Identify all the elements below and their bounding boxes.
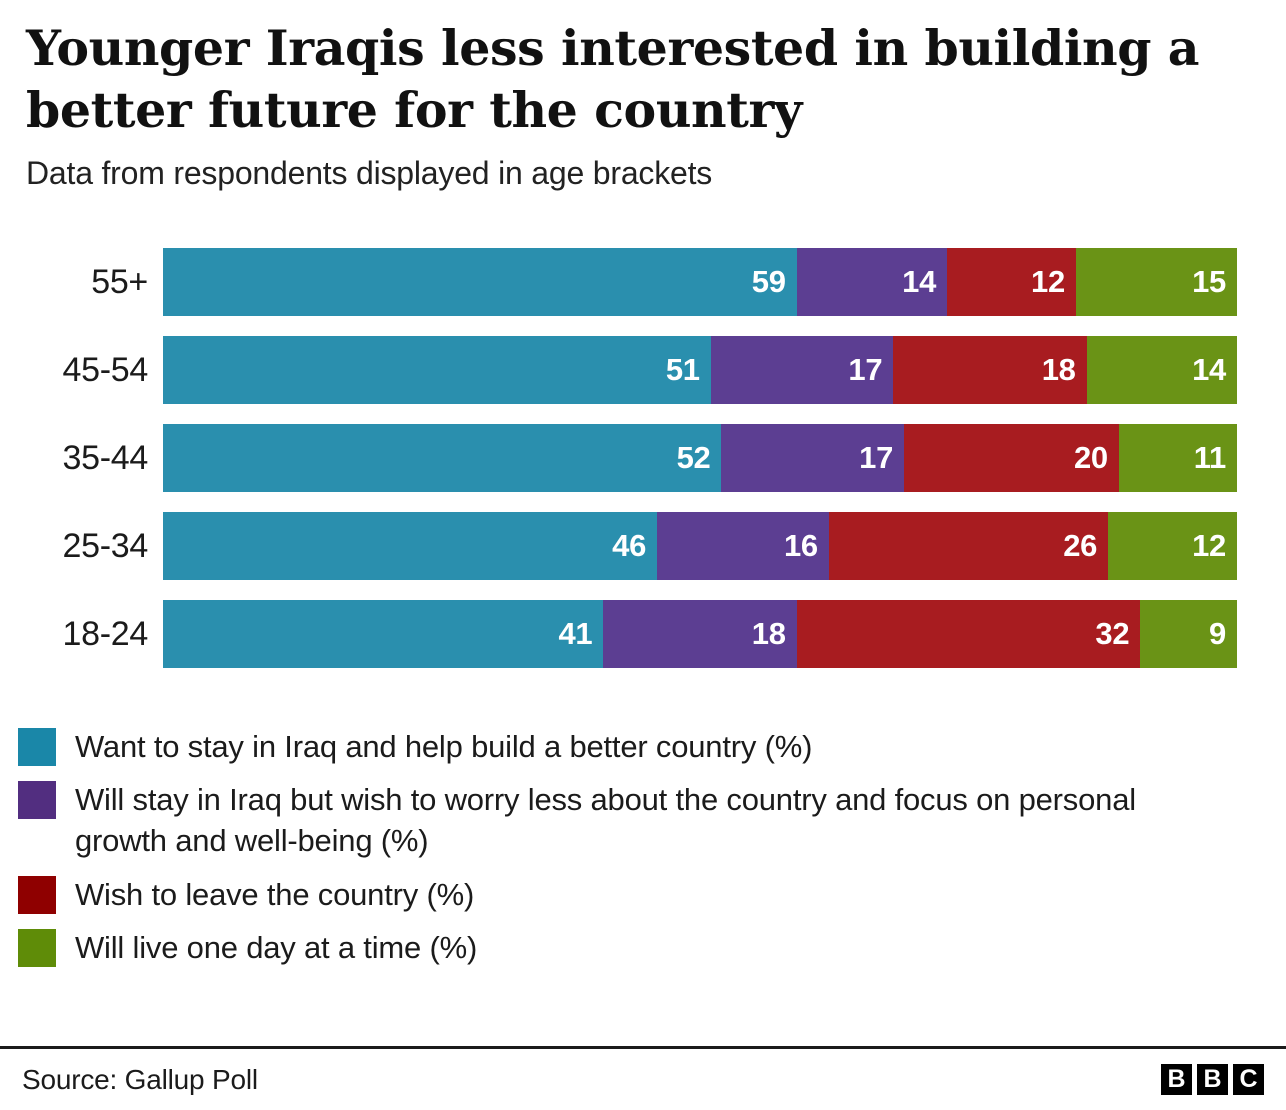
bar-row: 18-244118329	[0, 600, 1286, 668]
bar-segment-value: 18	[1042, 352, 1076, 388]
legend-swatch-icon	[18, 728, 56, 766]
bar-track: 4118329	[163, 600, 1237, 668]
bar-segment-value: 12	[1192, 528, 1226, 564]
bar-track: 51171814	[163, 336, 1237, 404]
bar-segment: 46	[163, 512, 657, 580]
bar-segment-value: 32	[1095, 616, 1129, 652]
bar-track: 59141215	[163, 248, 1237, 316]
bar-segment-value: 12	[1031, 264, 1065, 300]
chart-page: Younger Iraqis less interested in buildi…	[0, 0, 1286, 1110]
chart-title: Younger Iraqis less interested in buildi…	[26, 18, 1206, 141]
legend-label: Wish to leave the country (%)	[75, 874, 474, 915]
bar-row: 25-3446162612	[0, 512, 1286, 580]
bar-segment-value: 17	[859, 440, 893, 476]
bar-segment: 12	[1108, 512, 1237, 580]
bar-segment-value: 41	[558, 616, 592, 652]
bar-segment: 17	[721, 424, 904, 492]
bar-segment-value: 59	[752, 264, 786, 300]
legend-item: Want to stay in Iraq and help build a be…	[18, 726, 1258, 767]
category-label: 35-44	[0, 424, 148, 492]
legend-label: Want to stay in Iraq and help build a be…	[75, 726, 812, 767]
bar-segment: 41	[163, 600, 603, 668]
bar-segment: 18	[603, 600, 796, 668]
bar-segment-value: 14	[902, 264, 936, 300]
category-label: 25-34	[0, 512, 148, 580]
bar-segment: 18	[893, 336, 1086, 404]
bar-segment-value: 11	[1194, 440, 1226, 476]
source-label: Source: Gallup Poll	[22, 1064, 258, 1096]
bar-track: 52172011	[163, 424, 1237, 492]
bbc-logo: BBC	[1161, 1064, 1264, 1095]
legend-swatch-icon	[18, 876, 56, 914]
bar-segment: 14	[1087, 336, 1237, 404]
bar-segment-value: 17	[848, 352, 882, 388]
category-label: 55+	[0, 248, 148, 316]
bar-segment-value: 14	[1192, 352, 1226, 388]
bar-segment: 52	[163, 424, 721, 492]
bar-track: 46162612	[163, 512, 1237, 580]
bbc-logo-block: C	[1233, 1064, 1264, 1095]
bar-segment-value: 20	[1074, 440, 1108, 476]
category-label: 45-54	[0, 336, 148, 404]
legend-item: Will stay in Iraq but wish to worry less…	[18, 779, 1258, 861]
bar-segment-value: 18	[752, 616, 786, 652]
bar-segment: 20	[904, 424, 1119, 492]
bar-row: 55+59141215	[0, 248, 1286, 316]
bar-segment: 26	[829, 512, 1108, 580]
bar-segment-value: 52	[677, 440, 711, 476]
legend-label: Will live one day at a time (%)	[75, 927, 477, 968]
bar-segment-value: 15	[1192, 264, 1226, 300]
bar-segment: 15	[1076, 248, 1237, 316]
bbc-logo-block: B	[1197, 1064, 1228, 1095]
bar-segment: 32	[797, 600, 1141, 668]
legend-label: Will stay in Iraq but wish to worry less…	[75, 779, 1235, 861]
bar-row: 35-4452172011	[0, 424, 1286, 492]
chart-subtitle: Data from respondents displayed in age b…	[26, 155, 1260, 192]
bar-segment-value: 46	[612, 528, 646, 564]
legend-swatch-icon	[18, 929, 56, 967]
bar-row: 45-5451171814	[0, 336, 1286, 404]
bar-segment: 59	[163, 248, 797, 316]
bbc-logo-block: B	[1161, 1064, 1192, 1095]
chart-footer: Source: Gallup Poll BBC	[0, 1049, 1286, 1110]
legend-swatch-icon	[18, 781, 56, 819]
bar-segment-value: 51	[666, 352, 700, 388]
bar-segment-value: 26	[1063, 528, 1097, 564]
bar-segment: 14	[797, 248, 947, 316]
bar-segment: 9	[1140, 600, 1237, 668]
bar-segment-value: 16	[784, 528, 818, 564]
bar-segment: 11	[1119, 424, 1237, 492]
chart-plot-area: 55+5914121545-545117181435-445217201125-…	[0, 248, 1286, 668]
bar-segment: 51	[163, 336, 711, 404]
chart-header: Younger Iraqis less interested in buildi…	[0, 0, 1286, 192]
category-label: 18-24	[0, 600, 148, 668]
bar-segment-value: 9	[1209, 616, 1226, 652]
legend-item: Will live one day at a time (%)	[18, 927, 1258, 968]
bar-segment: 12	[947, 248, 1076, 316]
bar-segment: 17	[711, 336, 894, 404]
legend-item: Wish to leave the country (%)	[18, 874, 1258, 915]
bar-segment: 16	[657, 512, 829, 580]
chart-legend: Want to stay in Iraq and help build a be…	[18, 726, 1258, 980]
